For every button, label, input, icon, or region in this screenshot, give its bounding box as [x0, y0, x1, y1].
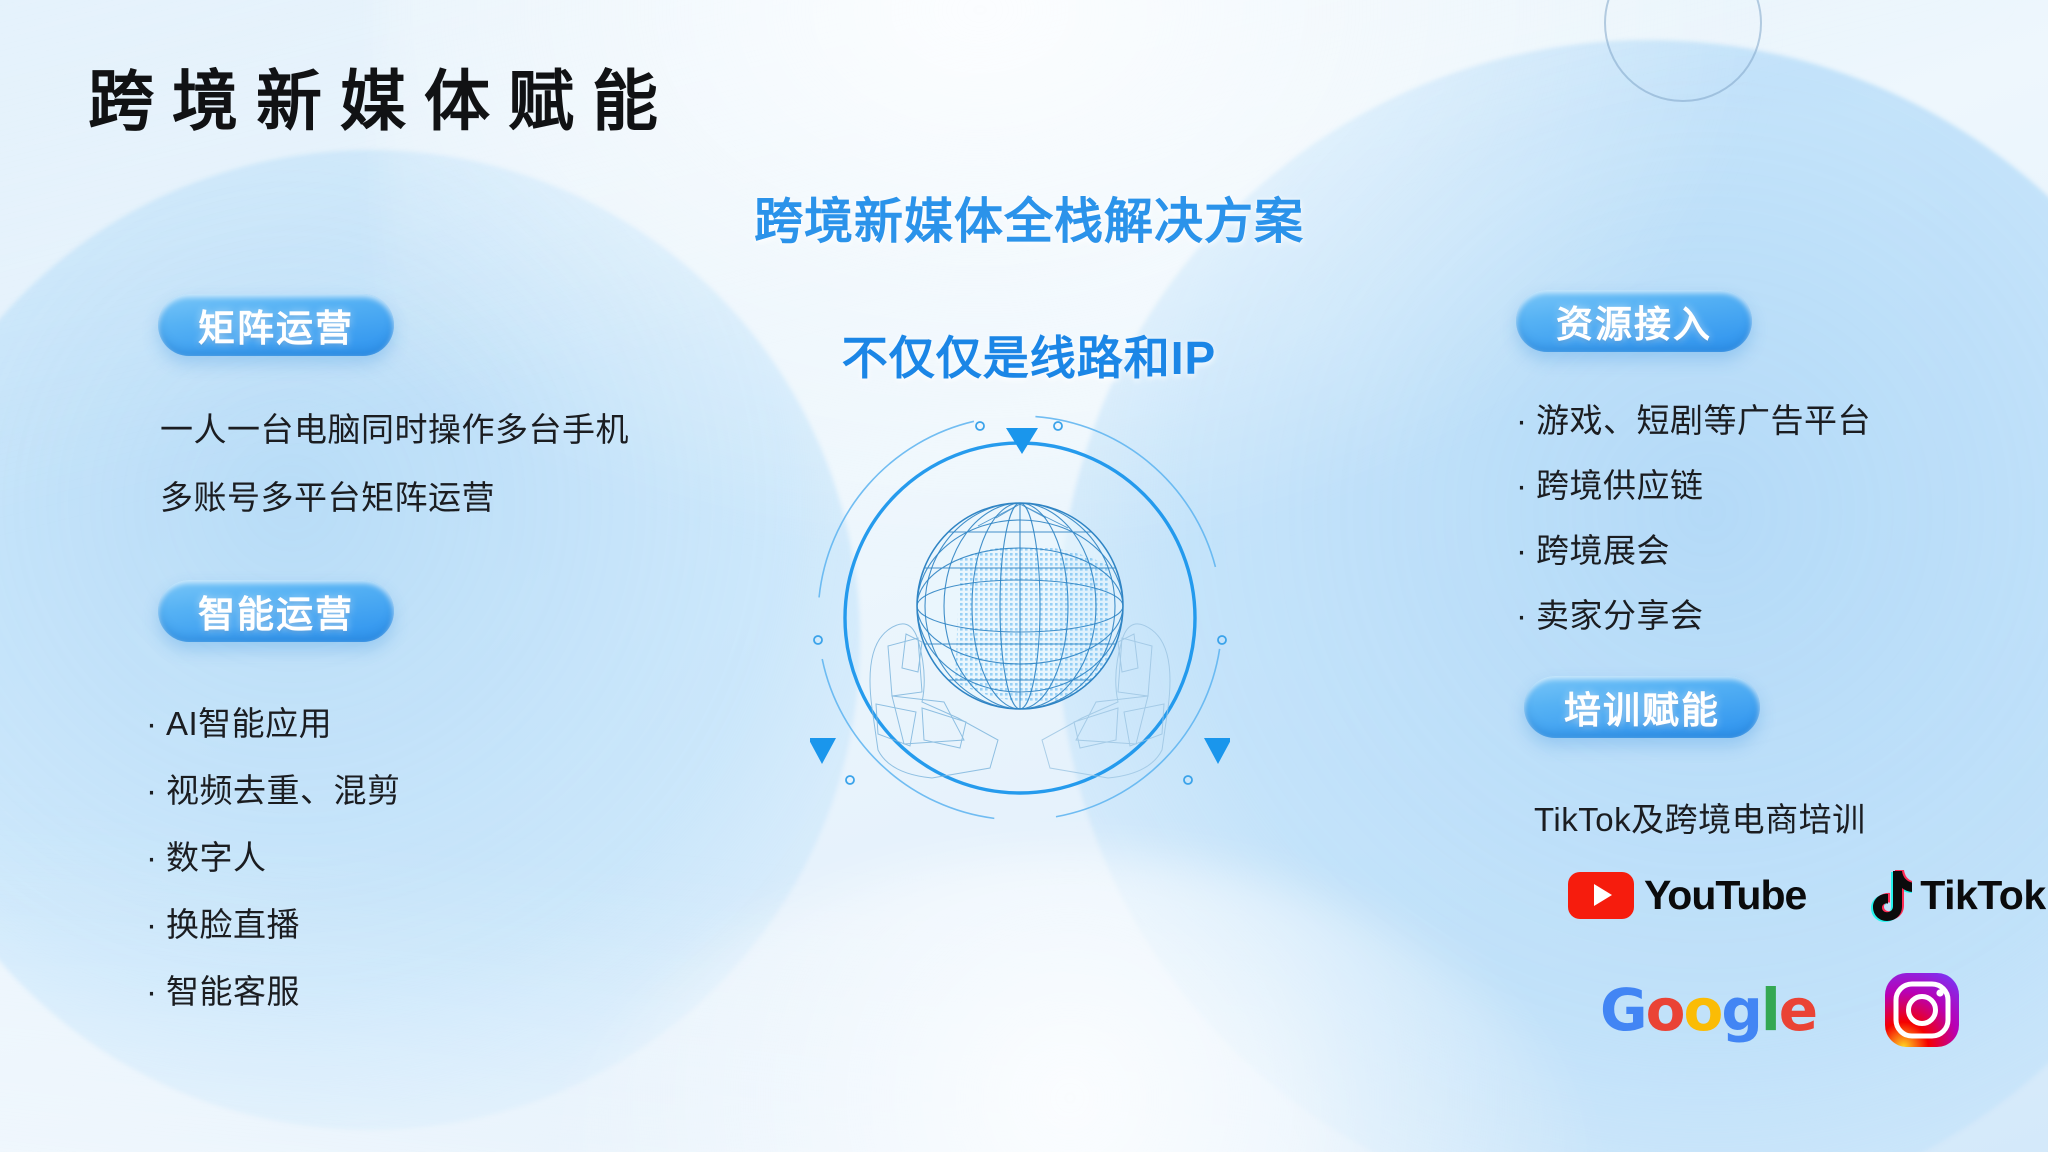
background-circle-left: [0, 150, 860, 1130]
youtube-label: YouTube: [1644, 872, 1806, 919]
list-item-label: AI智能应用: [166, 705, 332, 742]
globe-in-hands-illustration: [810, 408, 1230, 828]
center-heading-primary: 跨境新媒体全栈解决方案: [240, 182, 1818, 253]
background-glow-bottom: [520, 852, 1620, 1152]
bullet-icon: ·: [146, 705, 166, 743]
list-item-label: 视频去重、混剪: [166, 772, 401, 809]
slide-canvas: 跨境新媒体赋能 跨境新媒体全栈解决方案 不仅仅是线路和IP: [0, 0, 2048, 1152]
brand-logos-row-2: Google: [1600, 972, 1960, 1048]
bullet-icon: ·: [146, 839, 166, 877]
list-item: ·卖家分享会: [1516, 589, 1704, 637]
bullet-icon: ·: [146, 906, 166, 944]
list-item: ·换脸直播: [146, 898, 300, 946]
list-item: ·数字人: [146, 831, 267, 879]
list-item-label: 数字人: [166, 839, 267, 876]
right-text-training: TikTok及跨境电商培训: [1534, 793, 1866, 841]
youtube-logo[interactable]: YouTube: [1568, 872, 1806, 919]
google-logo[interactable]: Google: [1600, 976, 1816, 1044]
brand-logos-row-1: YouTube TikTok: [1568, 868, 2046, 922]
instagram-logo[interactable]: [1884, 972, 1960, 1048]
left-text-line-2: 多账号多平台矩阵运营: [160, 471, 495, 519]
left-text-line-1: 一人一台电脑同时操作多台手机: [160, 403, 629, 451]
badge-matrix-operations[interactable]: 矩阵运营: [158, 294, 394, 356]
bullet-icon: ·: [1516, 597, 1536, 635]
badge-resource-access[interactable]: 资源接入: [1516, 290, 1752, 352]
bullet-icon: ·: [1516, 467, 1536, 505]
list-item-label: 跨境供应链: [1536, 467, 1704, 504]
youtube-play-icon: [1568, 872, 1634, 919]
list-item-label: 跨境展会: [1536, 532, 1670, 569]
list-item-label: 卖家分享会: [1536, 597, 1704, 634]
list-item: ·游戏、短剧等广告平台: [1516, 394, 1871, 442]
tiktok-logo[interactable]: TikTok: [1864, 868, 2045, 922]
list-item-label: 换脸直播: [166, 906, 300, 943]
page-title: 跨境新媒体赋能: [88, 48, 676, 144]
tiktok-note-icon: [1864, 868, 1912, 922]
decorative-ring-icon: [1604, 0, 1762, 102]
list-item-label: 游戏、短剧等广告平台: [1536, 402, 1871, 439]
list-item: ·智能客服: [146, 965, 300, 1013]
list-item: ·视频去重、混剪: [146, 764, 401, 812]
badge-training-empowerment[interactable]: 培训赋能: [1524, 676, 1760, 738]
tiktok-label: TikTok: [1920, 872, 2045, 919]
bullet-icon: ·: [146, 973, 166, 1011]
globe-illustration-svg: [810, 408, 1230, 828]
bullet-icon: ·: [146, 772, 166, 810]
bullet-icon: ·: [1516, 532, 1536, 570]
list-item: ·跨境展会: [1516, 524, 1670, 572]
list-item: ·跨境供应链: [1516, 459, 1704, 507]
bullet-icon: ·: [1516, 402, 1536, 440]
badge-smart-operations[interactable]: 智能运营: [158, 580, 394, 642]
list-item-label: 智能客服: [166, 973, 300, 1010]
list-item: ·AI智能应用: [146, 697, 332, 745]
